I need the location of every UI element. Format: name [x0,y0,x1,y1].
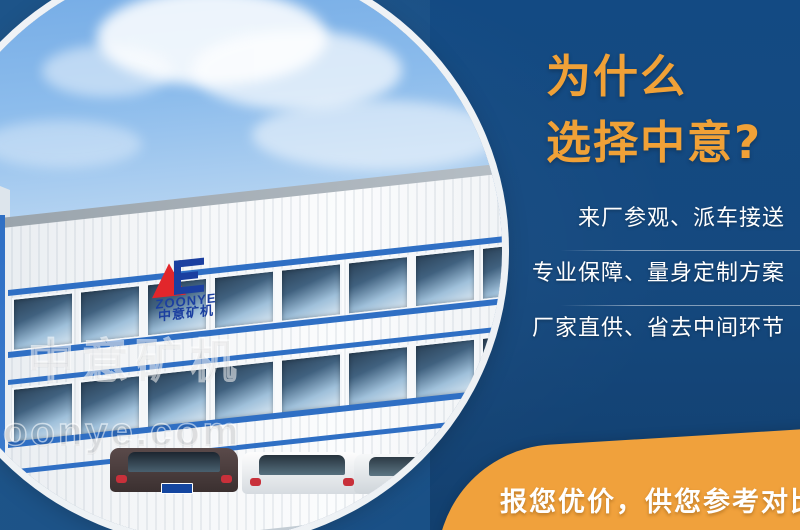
parked-car [242,452,362,494]
window-pane [146,367,208,430]
parked-car [354,454,458,494]
window-pane [280,352,342,415]
letter-e-icon [174,258,204,295]
headline: 为什么 选择中意? [546,44,762,176]
headline-line-1: 为什么 [546,44,762,110]
window-pane [12,291,74,352]
promo-banner: ZOONYE 中意矿机 中意矿机 zoonye.com 为什么 选择中意? [0,0,800,530]
feature-text: 来厂参观、派车接送 [578,204,785,234]
cloud-shape [252,100,502,170]
window-pane [347,345,409,408]
building-corner-edge [0,215,5,530]
feature-text: 专业保障、量身定制方案 [532,259,785,289]
cloud-shape [42,45,172,97]
window-pane [414,248,476,309]
parked-car [110,448,238,492]
feature-item: 专业保障、量身定制方案 [470,251,800,306]
feature-item: 厂家直供、省去中间环节 [470,306,800,361]
circular-photo-frame: ZOONYE 中意矿机 中意矿机 zoonye.com [0,0,502,530]
headline-line-2: 选择中意? [546,110,762,176]
feature-item: 来厂参观、派车接送 [470,196,800,251]
feature-list: 来厂参观、派车接送 专业保障、量身定制方案 厂家直供、省去中间环节 [470,196,800,361]
company-logo: ZOONYE 中意矿机 [136,255,228,327]
window-pane [79,284,141,345]
window-pane [213,359,275,422]
window-pane [414,338,476,401]
cloud-shape [192,30,402,110]
promo-banner-text: 报您优价，供您参考对比 [500,486,800,520]
feature-text: 厂家直供、省去中间环节 [532,314,785,344]
window-pane [347,255,409,316]
factory-photo: ZOONYE 中意矿机 中意矿机 zoonye.com [0,0,502,530]
window-pane [12,381,74,444]
window-pane [79,374,141,437]
window-pane [280,262,342,323]
